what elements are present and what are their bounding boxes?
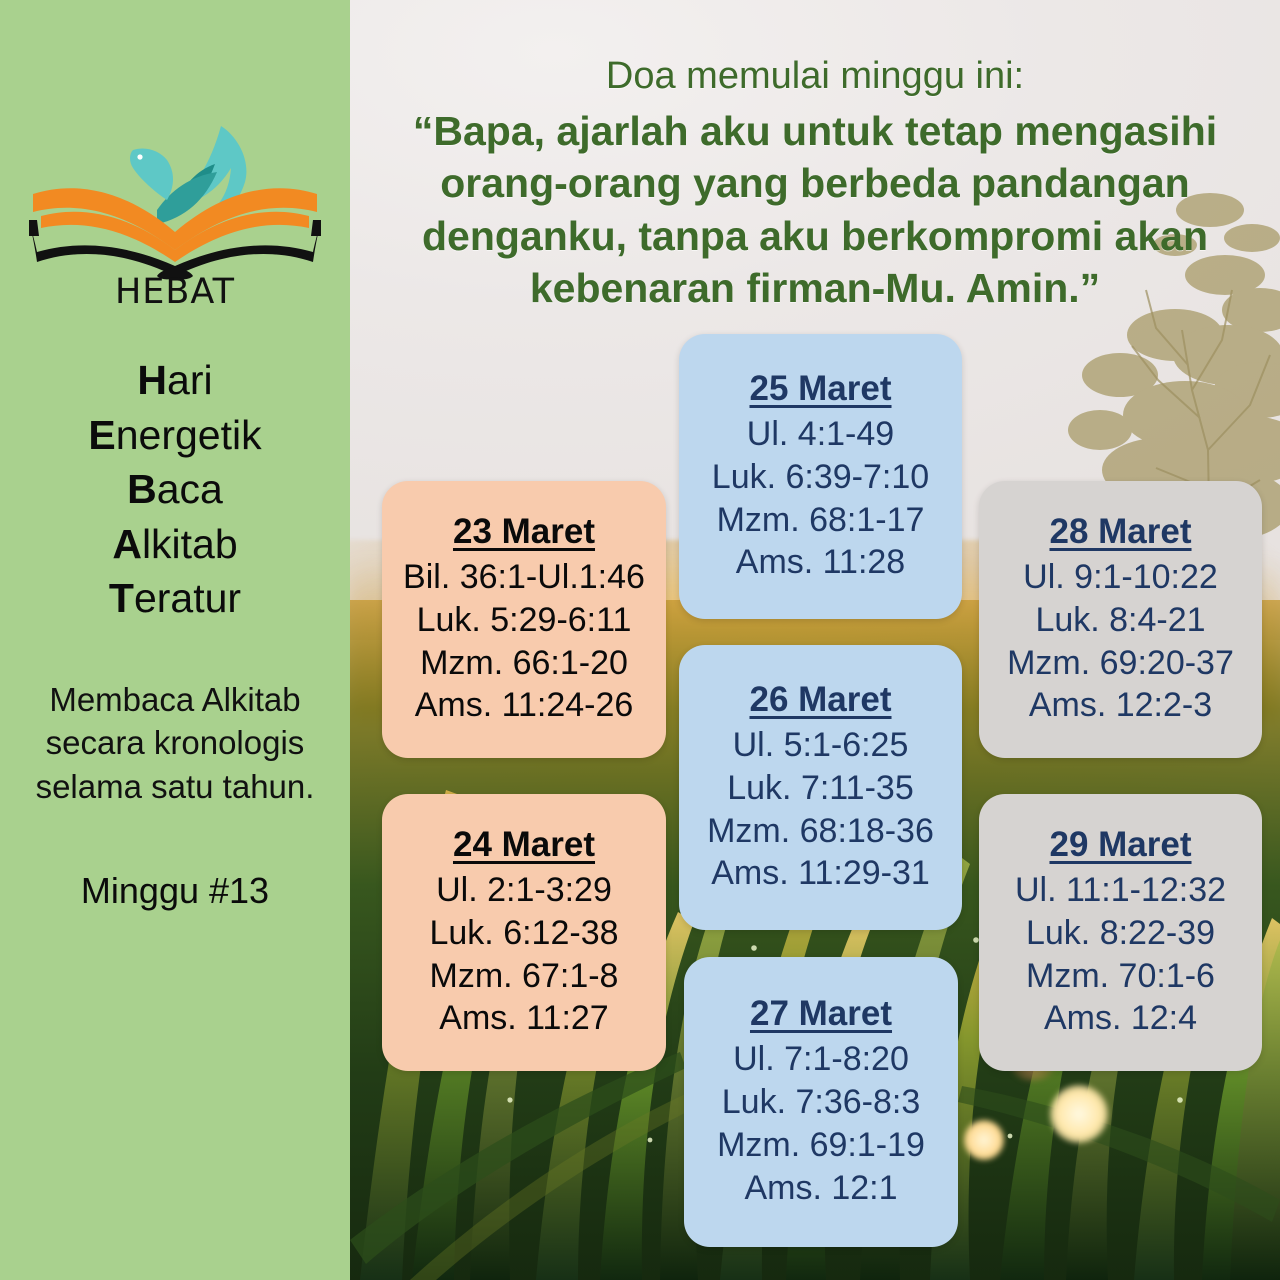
card-reading: Luk. 7:11-35	[727, 767, 914, 810]
week-label: Minggu #13	[25, 870, 325, 912]
card-reading: Luk. 6:12-38	[429, 912, 618, 955]
logo-wordmark: HEBAT	[25, 272, 325, 312]
sidebar-blurb: Membaca Alkitab secara kronologis selama…	[25, 678, 325, 809]
acronym-block: HariEnergetikBacaAlkitabTeratur	[15, 353, 335, 626]
prayer-intro: Doa memulai minggu ini:	[606, 55, 1024, 97]
bokeh-light-medium	[964, 1120, 1004, 1160]
card-reading: Luk. 8:22-39	[1026, 912, 1215, 955]
acronym-initial: B	[127, 466, 157, 512]
card-reading: Ul. 5:1-6:25	[733, 724, 909, 767]
acronym-initial: H	[137, 357, 167, 403]
acronym-line-b: Baca	[15, 462, 335, 517]
card-reading: Mzm. 66:1-20	[420, 642, 628, 685]
card-reading: Ams. 12:4	[1044, 997, 1197, 1040]
acronym-initial: T	[109, 575, 134, 621]
acronym-initial: E	[88, 412, 115, 458]
card-reading: Luk. 7:36-8:3	[722, 1081, 920, 1124]
card-reading: Ams. 11:24-26	[415, 684, 634, 727]
acronym-line-h: Hari	[15, 353, 335, 408]
card-reading: Ams. 12:2-3	[1029, 684, 1212, 727]
card-date: 27 Maret	[750, 994, 892, 1034]
card-reading: Mzm. 69:20-37	[1007, 642, 1234, 685]
day-card-29-maret[interactable]: 29 MaretUl. 11:1-12:32Luk. 8:22-39Mzm. 7…	[979, 794, 1262, 1071]
acronym-rest: nergetik	[116, 412, 262, 458]
card-reading: Luk. 8:4-21	[1035, 599, 1205, 642]
card-reading: Mzm. 67:1-8	[430, 955, 619, 998]
acronym-line-a: Alkitab	[15, 517, 335, 572]
card-reading: Luk. 6:39-7:10	[712, 456, 929, 499]
acronym-line-e: Energetik	[15, 408, 335, 463]
card-reading: Ul. 7:1-8:20	[733, 1038, 909, 1081]
card-reading: Ams. 12:1	[744, 1167, 897, 1210]
day-card-24-maret[interactable]: 24 MaretUl. 2:1-3:29Luk. 6:12-38Mzm. 67:…	[382, 794, 666, 1071]
card-reading: Mzm. 68:1-17	[717, 499, 925, 542]
card-reading: Ul. 2:1-3:29	[436, 869, 612, 912]
card-date: 24 Maret	[453, 825, 595, 865]
card-reading: Luk. 5:29-6:11	[417, 599, 632, 642]
card-date: 28 Maret	[1049, 512, 1191, 552]
day-card-25-maret[interactable]: 25 MaretUl. 4:1-49Luk. 6:39-7:10Mzm. 68:…	[679, 334, 962, 619]
acronym-line-t: Teratur	[15, 571, 335, 626]
card-reading: Ams. 11:29-31	[711, 852, 930, 895]
card-reading: Ul. 4:1-49	[747, 413, 894, 456]
logo: HEBAT	[25, 120, 325, 335]
acronym-rest: lkitab	[142, 521, 238, 567]
card-reading: Mzm. 68:18-36	[707, 810, 934, 853]
card-reading: Mzm. 70:1-6	[1026, 955, 1215, 998]
acronym-rest: ari	[167, 357, 213, 403]
card-reading: Ams. 11:27	[439, 997, 608, 1040]
card-date: 26 Maret	[749, 680, 891, 720]
card-date: 25 Maret	[749, 369, 891, 409]
sidebar: HEBAT HariEnergetikBacaAlkitabTeratur Me…	[0, 0, 350, 1280]
open-book-with-bird-icon	[25, 120, 325, 280]
card-reading: Ams. 11:28	[736, 541, 905, 584]
acronym-initial: A	[112, 521, 142, 567]
poster-root: Doa memulai minggu ini: “Bapa, ajarlah a…	[0, 0, 1280, 1280]
card-reading: Mzm. 69:1-19	[717, 1124, 925, 1167]
card-date: 23 Maret	[453, 512, 595, 552]
bokeh-light-large	[1050, 1085, 1108, 1143]
card-date: 29 Maret	[1049, 825, 1191, 865]
prayer-quote: “Bapa, ajarlah aku untuk tetap mengasihi…	[380, 105, 1250, 315]
prayer-header: Doa memulai minggu ini: “Bapa, ajarlah a…	[380, 52, 1250, 315]
acronym-rest: eratur	[134, 575, 241, 621]
card-reading: Bil. 36:1-Ul.1:46	[403, 556, 645, 599]
day-card-27-maret[interactable]: 27 MaretUl. 7:1-8:20Luk. 7:36-8:3Mzm. 69…	[684, 957, 958, 1247]
day-card-23-maret[interactable]: 23 MaretBil. 36:1-Ul.1:46Luk. 5:29-6:11M…	[382, 481, 666, 758]
acronym-rest: aca	[157, 466, 223, 512]
card-reading: Ul. 9:1-10:22	[1023, 556, 1218, 599]
day-card-28-maret[interactable]: 28 MaretUl. 9:1-10:22Luk. 8:4-21Mzm. 69:…	[979, 481, 1262, 758]
day-card-26-maret[interactable]: 26 MaretUl. 5:1-6:25Luk. 7:11-35Mzm. 68:…	[679, 645, 962, 930]
card-reading: Ul. 11:1-12:32	[1015, 869, 1226, 912]
